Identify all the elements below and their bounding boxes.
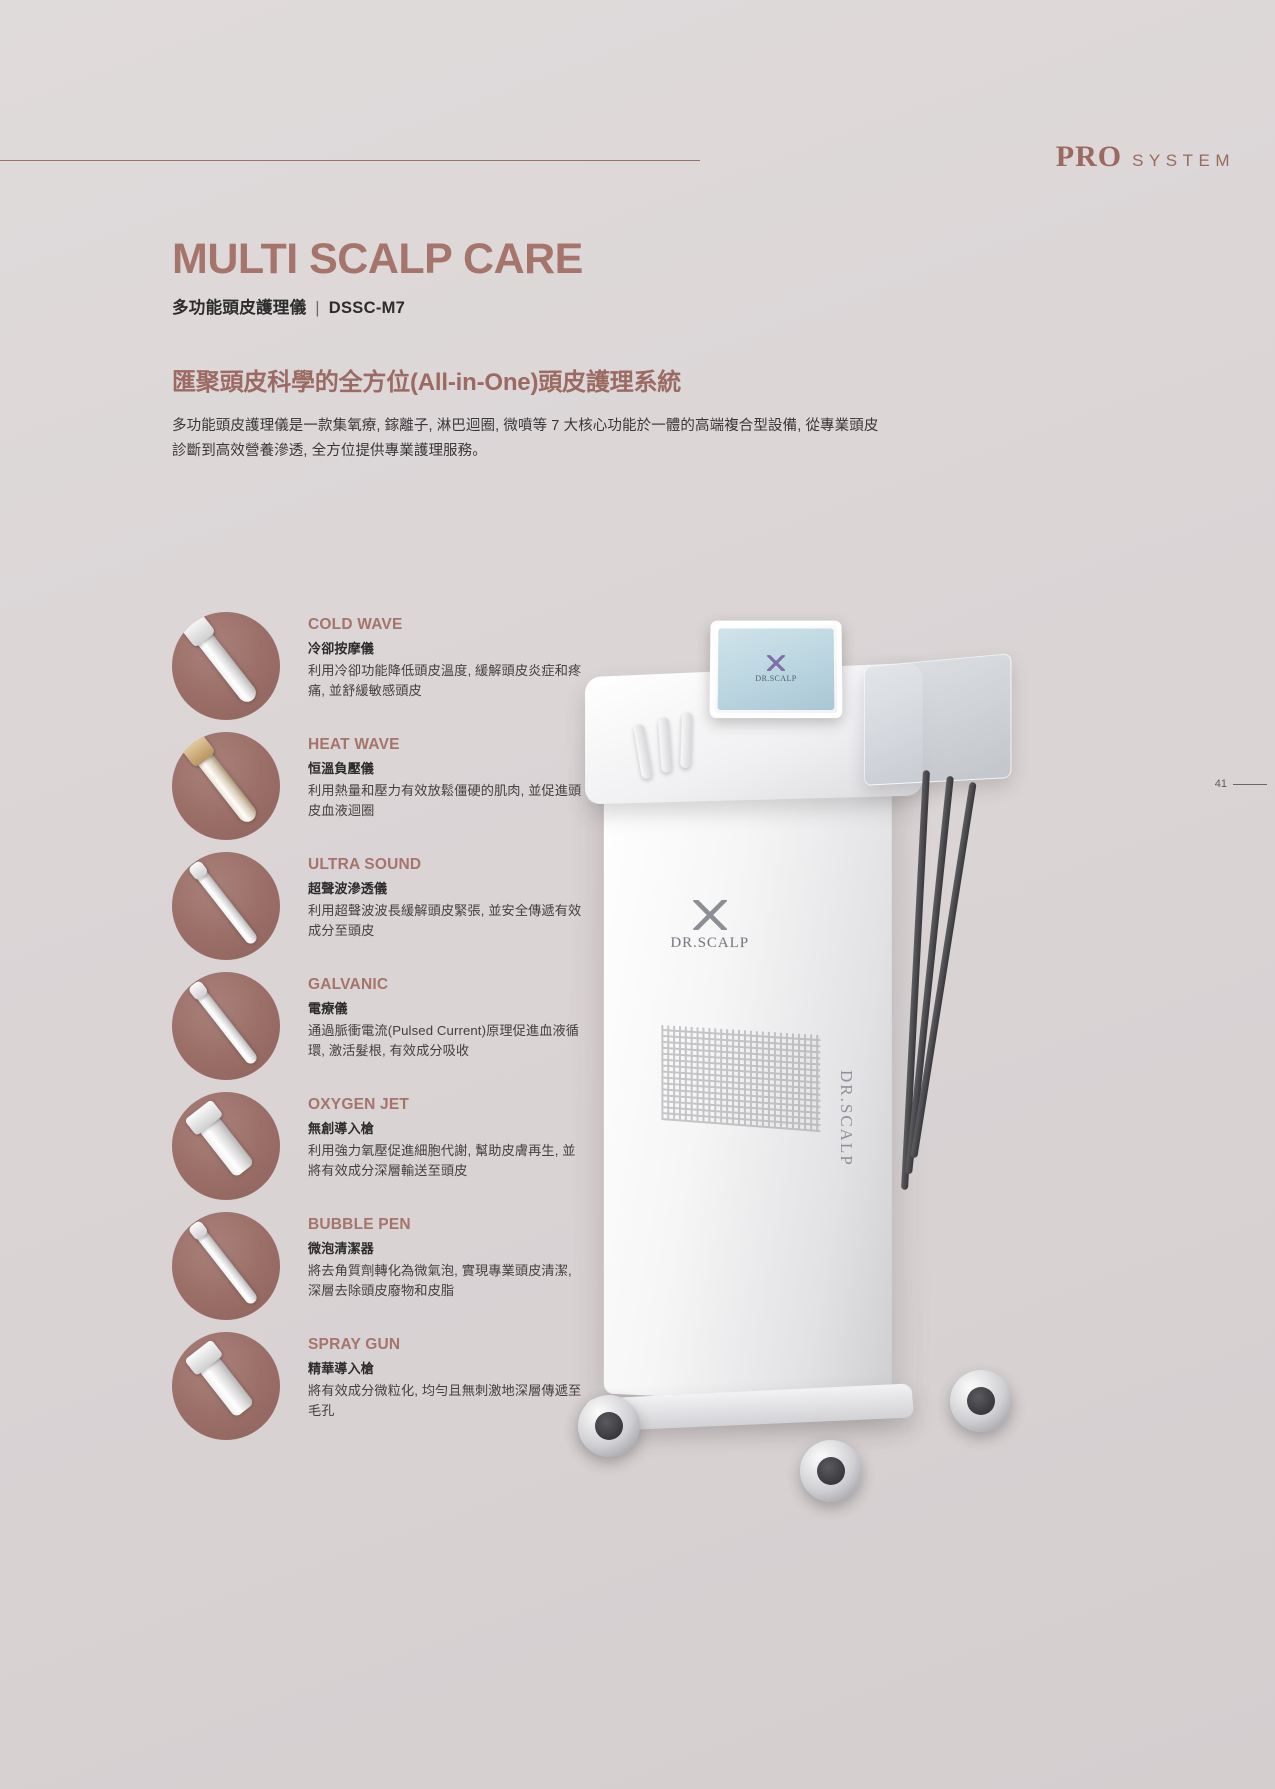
- feature-title-zh: 無創導入槍: [308, 1118, 588, 1137]
- handpiece-holder-2: [658, 717, 672, 773]
- dr-scalp-mark-icon: [767, 655, 785, 671]
- feature-item-heat-wave: HEAT WAVE 恒溫負壓儀 利用熱量和壓力有效放鬆僵硬的肌肉, 並促進頭皮血…: [172, 728, 592, 848]
- feature-description: 利用超聲波波長緩解頭皮緊張, 並安全傳遞有效成分至頭皮: [308, 901, 588, 940]
- feature-list: COLD WAVE 冷卻按摩儀 利用冷卻功能降低頭皮溫度, 緩解頭皮炎症和疼痛,…: [172, 608, 592, 1448]
- feature-title-en: COLD WAVE: [308, 616, 588, 633]
- handpiece-holder-3: [680, 712, 693, 768]
- brand-primary-text: PRO: [1056, 140, 1122, 174]
- feature-title-zh: 微泡清潔器: [308, 1238, 588, 1257]
- title-block: MULTI SCALP CARE 多功能頭皮護理儀 | DSSC-M7: [172, 238, 583, 318]
- oxygen-jet-gun-icon: [172, 1092, 280, 1200]
- feature-title-zh: 電療儀: [308, 998, 588, 1017]
- page-number-text: 41: [1215, 778, 1227, 790]
- lead-heading: 匯聚頭皮科學的全方位(All-in-One)頭皮護理系統: [172, 362, 892, 397]
- cold-wave-handpiece-icon: [172, 612, 280, 720]
- brochure-page: PRO SYSTEM MULTI SCALP CARE 多功能頭皮護理儀 | D…: [0, 0, 1275, 1789]
- feature-title-en: HEAT WAVE: [308, 736, 588, 753]
- device-side-logo-text: DR.SCALP: [836, 1070, 856, 1167]
- page-number: 41: [1215, 778, 1267, 790]
- device-accessory-tray: [864, 653, 1012, 786]
- galvanic-handpiece-icon: [172, 972, 280, 1080]
- feature-title-en: ULTRA SOUND: [308, 856, 588, 873]
- feature-item-oxygen-jet: OXYGEN JET 無創導入槍 利用強力氧壓促進細胞代謝, 幫助皮膚再生, 並…: [172, 1088, 592, 1208]
- spray-gun-icon: [172, 1332, 280, 1440]
- device-body-logo-text: DR.SCALP: [671, 935, 750, 952]
- device-caster-wheel: [578, 1395, 640, 1457]
- device-body-logo: DR.SCALP: [671, 900, 750, 952]
- feature-description: 利用冷卻功能降低頭皮溫度, 緩解頭皮炎症和疼痛, 並舒緩敏感頭皮: [308, 661, 588, 700]
- brand-logo: PRO SYSTEM: [1056, 140, 1235, 174]
- page-title: MULTI SCALP CARE: [172, 238, 583, 281]
- feature-title-en: GALVANIC: [308, 976, 588, 993]
- feature-title-zh: 精華導入槍: [308, 1358, 588, 1377]
- header-rule: [0, 160, 700, 161]
- feature-description: 利用強力氧壓促進細胞代謝, 幫助皮膚再生, 並將有效成分深層輸送至頭皮: [308, 1141, 588, 1180]
- dr-scalp-mark-icon: [693, 900, 727, 930]
- feature-title-en: OXYGEN JET: [308, 1096, 588, 1113]
- product-subtitle-zh: 多功能頭皮護理儀: [172, 299, 306, 317]
- bubble-pen-icon: [172, 1212, 280, 1320]
- device-caster-wheel: [800, 1440, 862, 1502]
- lead-section: 匯聚頭皮科學的全方位(All-in-One)頭皮護理系統 多功能頭皮護理儀是一款…: [172, 362, 892, 465]
- feature-item-galvanic: GALVANIC 電療儀 通過脈衝電流(Pulsed Current)原理促進血…: [172, 968, 592, 1088]
- feature-title-en: SPRAY GUN: [308, 1336, 588, 1353]
- feature-item-spray-gun: SPRAY GUN 精華導入槍 將有效成分微粒化, 均勻且無刺激地深層傳遞至毛孔: [172, 1328, 592, 1448]
- device-screen-logo-text: DR.SCALP: [755, 674, 796, 683]
- feature-item-bubble-pen: BUBBLE PEN 微泡清潔器 將去角質劑轉化為微氣泡, 實現專業頭皮清潔, …: [172, 1208, 592, 1328]
- subtitle-separator: |: [315, 299, 320, 317]
- device-photo: DR.SCALP DR.SCALP DR.SCALP: [560, 600, 1120, 1480]
- feature-title-en: BUBBLE PEN: [308, 1216, 588, 1233]
- device-touchscreen[interactable]: DR.SCALP: [710, 621, 843, 718]
- product-subtitle: 多功能頭皮護理儀 | DSSC-M7: [172, 294, 583, 318]
- feature-description: 利用熱量和壓力有效放鬆僵硬的肌肉, 並促進頭皮血液迴圈: [308, 781, 588, 820]
- feature-title-zh: 冷卻按摩儀: [308, 638, 588, 657]
- heat-wave-handpiece-icon: [172, 732, 280, 840]
- feature-description: 通過脈衝電流(Pulsed Current)原理促進血液循環, 激活髮根, 有效…: [308, 1021, 588, 1060]
- page-number-rule: [1233, 784, 1267, 785]
- feature-title-zh: 恒溫負壓儀: [308, 758, 588, 777]
- feature-description: 將有效成分微粒化, 均勻且無刺激地深層傳遞至毛孔: [308, 1381, 588, 1420]
- feature-item-ultra-sound: ULTRA SOUND 超聲波滲透儀 利用超聲波波長緩解頭皮緊張, 並安全傳遞有…: [172, 848, 592, 968]
- feature-description: 將去角質劑轉化為微氣泡, 實現專業頭皮清潔, 深層去除頭皮廢物和皮脂: [308, 1261, 588, 1300]
- brand-secondary-text: SYSTEM: [1132, 151, 1235, 171]
- device-vent-grille: [661, 1025, 820, 1132]
- ultrasound-handpiece-icon: [172, 852, 280, 960]
- lead-body: 多功能頭皮護理儀是一款集氧療, 鎵離子, 淋巴迴圈, 微噴等 7 大核心功能於一…: [172, 414, 892, 465]
- product-model: DSSC-M7: [329, 299, 405, 317]
- feature-item-cold-wave: COLD WAVE 冷卻按摩儀 利用冷卻功能降低頭皮溫度, 緩解頭皮炎症和疼痛,…: [172, 608, 592, 728]
- device-caster-wheel: [950, 1370, 1012, 1432]
- feature-title-zh: 超聲波滲透儀: [308, 878, 588, 897]
- handpiece-holder-1: [633, 723, 653, 779]
